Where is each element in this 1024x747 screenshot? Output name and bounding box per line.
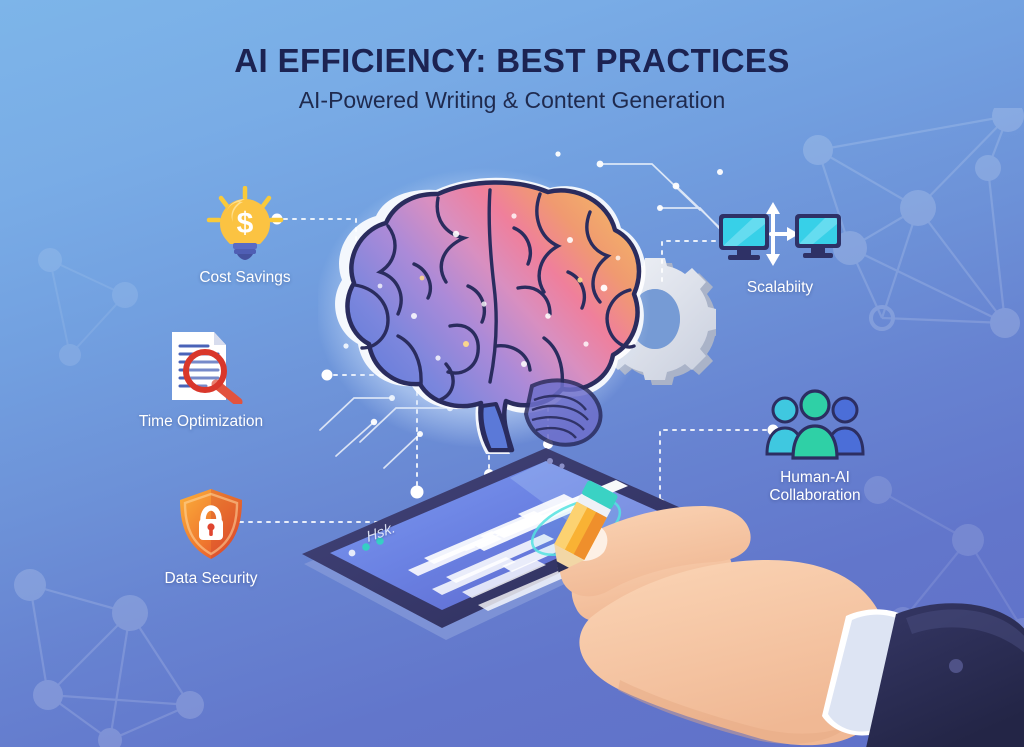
feature-cost-savings[interactable]: $ Cost Savings [160, 186, 330, 287]
page-subtitle: AI-Powered Writing & Content Generation [0, 88, 1024, 113]
feature-human-ai-collaboration[interactable]: Human-AI Collaboration [730, 386, 900, 506]
infographic-canvas: AI EFFICIENCY: BEST PRACTICES AI-Powered… [0, 0, 1024, 747]
lightbulb-dollar-icon: $ [160, 186, 330, 260]
pointing-hand-icon [560, 498, 1024, 747]
feature-label: Cost Savings [160, 269, 330, 287]
svg-text:$: $ [237, 207, 254, 240]
two-monitors-arrows-icon [695, 196, 865, 270]
three-people-icon [730, 386, 900, 460]
feature-data-security[interactable]: Data Security [126, 487, 296, 588]
shield-lock-icon [126, 487, 296, 561]
feature-label: Scalabiity [695, 279, 865, 297]
document-magnifier-icon [116, 330, 286, 404]
page-title: AI EFFICIENCY: BEST PRACTICES [0, 44, 1024, 79]
feature-label: Time Optimization [116, 413, 286, 431]
header: AI EFFICIENCY: BEST PRACTICES AI-Powered… [0, 44, 1024, 113]
feature-scalability[interactable]: Scalabiity [695, 196, 865, 297]
feature-label: Data Security [126, 570, 296, 588]
pencil-icon [538, 478, 624, 582]
feature-time-optimization[interactable]: Time Optimization [116, 330, 286, 431]
